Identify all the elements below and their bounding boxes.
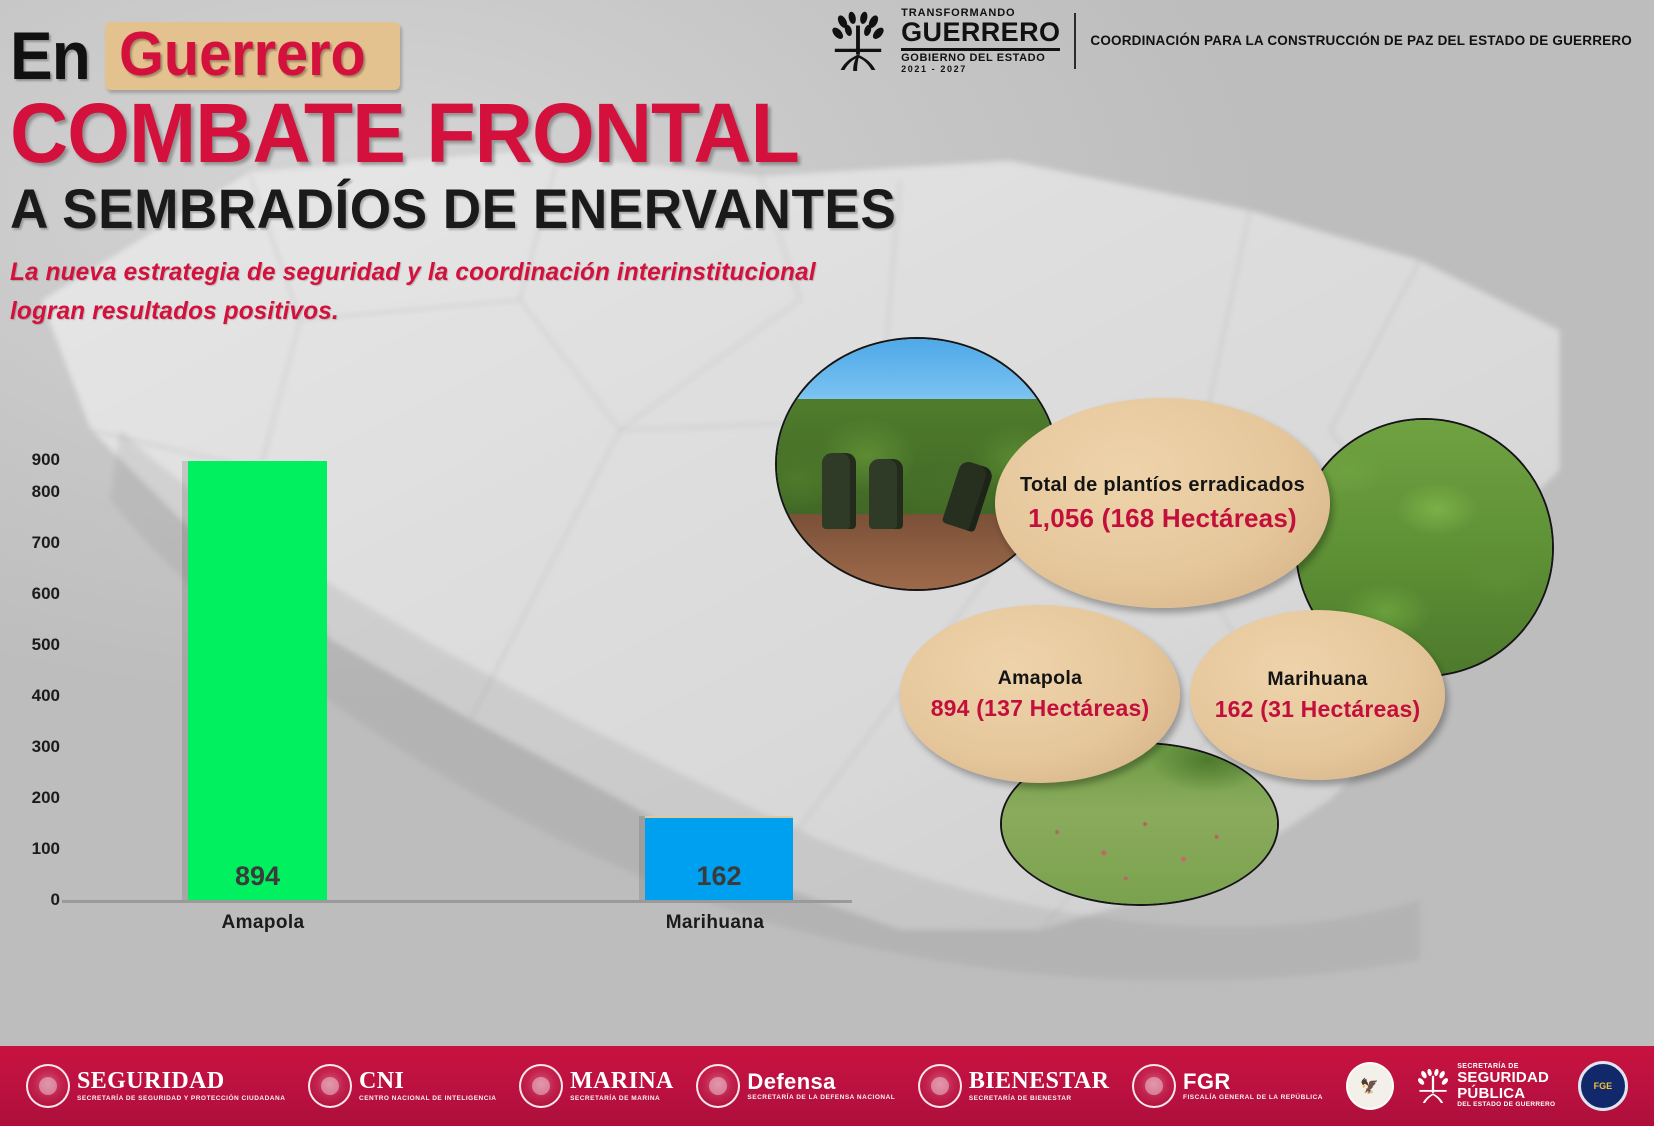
brand-block: TRANSFORMANDO GUERRERO GOBIERNO DEL ESTA… [829,8,1632,74]
logo-cni-sub: Centro Nacional de Inteligencia [359,1096,496,1103]
headline-en: En [10,22,90,90]
y-tick-900: 900 [32,450,60,470]
logo-seguridad-sub: Secretaría de Seguridad y Protección Ciu… [77,1096,285,1103]
callout-total-value: 1,056 (168 Hectáreas) [1028,504,1297,533]
logo-defensa-name: Defensa [747,1070,895,1093]
subtitle-line-2: logran resultados positivos. [10,292,1096,331]
logo-marina-name: MARINA [570,1069,674,1094]
logo-cni: CNI Centro Nacional de Inteligencia [308,1064,496,1108]
eagle-seal-icon [308,1064,352,1108]
brand-text: TRANSFORMANDO GUERRERO GOBIERNO DEL ESTA… [901,8,1060,74]
eagle-seal-icon [519,1064,563,1108]
footer-logo-bar: SEGURIDAD Secretaría de Seguridad y Prot… [0,1046,1654,1126]
bar-amapola[interactable]: 894 [188,461,327,900]
callout-amapola: Amapola 894 (137 Hectáreas) [900,605,1180,783]
fge-seal-icon: FGE [1578,1061,1628,1111]
eagle-seal-icon [918,1064,962,1108]
logo-fge: FGE [1578,1061,1628,1111]
logo-seguridad-name: SEGURIDAD [77,1069,285,1094]
guardia-nacional-seal-icon: 🦅 [1346,1062,1394,1110]
eagle-seal-icon [26,1064,70,1108]
tree-mark-icon [1416,1067,1450,1105]
bar-marihuana[interactable]: 162 [645,816,793,900]
logo-seguridad: SEGURIDAD Secretaría de Seguridad y Prot… [26,1064,285,1108]
headline-guerrero-pill: Guerrero [105,22,400,90]
callout-marihuana: Marihuana 162 (31 Hectáreas) [1190,610,1445,780]
y-tick-200: 200 [32,788,60,808]
sp-line-2: SEGURIDAD [1457,1070,1555,1086]
bar-value-marihuana: 162 [645,861,793,892]
callout-marihuana-title: Marihuana [1267,668,1367,690]
x-label-amapola: Amapola [128,912,398,934]
infographic-poster: TRANSFORMANDO GUERRERO GOBIERNO DEL ESTA… [0,0,1654,1126]
logo-bienestar-name: BIENESTAR [969,1069,1110,1094]
callout-total-title: Total de plantíos erradicados [1020,474,1305,497]
y-tick-500: 500 [32,635,60,655]
headline-line-2: COMBATE FRONTAL [10,92,1085,174]
plot-area: 894 162 [62,440,860,900]
subtitle-line-1: La nueva estrategia de seguridad y la co… [10,253,1096,292]
callout-total: Total de plantíos erradicados 1,056 (168… [995,398,1330,608]
logo-bienestar-sub: Secretaría de Bienestar [969,1096,1110,1103]
logo-marina-sub: Secretaría de Marina [570,1096,674,1103]
callout-marihuana-value: 162 (31 Hectáreas) [1215,697,1421,722]
y-tick-100: 100 [32,839,60,859]
logo-guardia-nacional: 🦅 [1346,1062,1394,1110]
y-tick-300: 300 [32,737,60,757]
logo-bienestar: BIENESTAR Secretaría de Bienestar [918,1064,1110,1108]
logo-fgr: FGR Fiscalía General de la República [1132,1064,1323,1108]
y-axis: 0 100 200 300 400 500 600 700 800 900 [8,440,60,900]
brand-divider [1074,13,1076,69]
y-tick-800: 800 [32,482,60,502]
brand-years: 2021 - 2027 [901,65,1060,74]
callout-amapola-title: Amapola [998,667,1082,689]
callout-amapola-value: 894 (137 Hectáreas) [931,696,1150,721]
brand-gobierno: GOBIERNO DEL ESTADO [901,53,1060,64]
logo-defensa-sub: Secretaría de la Defensa Nacional [747,1095,895,1102]
x-label-marihuana: Marihuana [570,912,860,934]
brand-guerrero: GUERRERO [901,19,1060,51]
logo-cni-name: CNI [359,1069,496,1094]
logo-fgr-name: FGR [1183,1070,1323,1093]
headline-guerrero: Guerrero [119,24,366,86]
subtitle-block: La nueva estrategia de seguridad y la co… [10,253,1096,331]
sp-line-4: DEL ESTADO DE GUERRERO [1457,1102,1555,1109]
logo-seguridad-publica-guerrero: SECRETARÍA DE SEGURIDAD PÚBLICA DEL ESTA… [1416,1063,1555,1109]
tree-mark-icon [829,10,887,72]
logo-defensa: Defensa Secretaría de la Defensa Naciona… [696,1064,895,1108]
headline-line-3: A SEMBRADÍOS DE ENERVANTES [10,180,1074,239]
logo-marina: MARINA Secretaría de Marina [519,1064,674,1108]
y-tick-600: 600 [32,584,60,604]
y-tick-0: 0 [51,890,60,910]
logo-fgr-sub: Fiscalía General de la República [1183,1095,1323,1102]
chart-baseline [62,900,852,903]
eagle-seal-icon [1132,1064,1176,1108]
eagle-seal-icon [696,1064,740,1108]
bar-chart: 0 100 200 300 400 500 600 700 800 900 89… [0,440,900,960]
y-tick-700: 700 [32,533,60,553]
bar-value-amapola: 894 [188,861,327,892]
sp-line-3: PÚBLICA [1457,1086,1555,1102]
coordination-text: COORDINACIÓN PARA LA CONSTRUCCIÓN DE PAZ… [1090,32,1632,50]
y-tick-400: 400 [32,686,60,706]
